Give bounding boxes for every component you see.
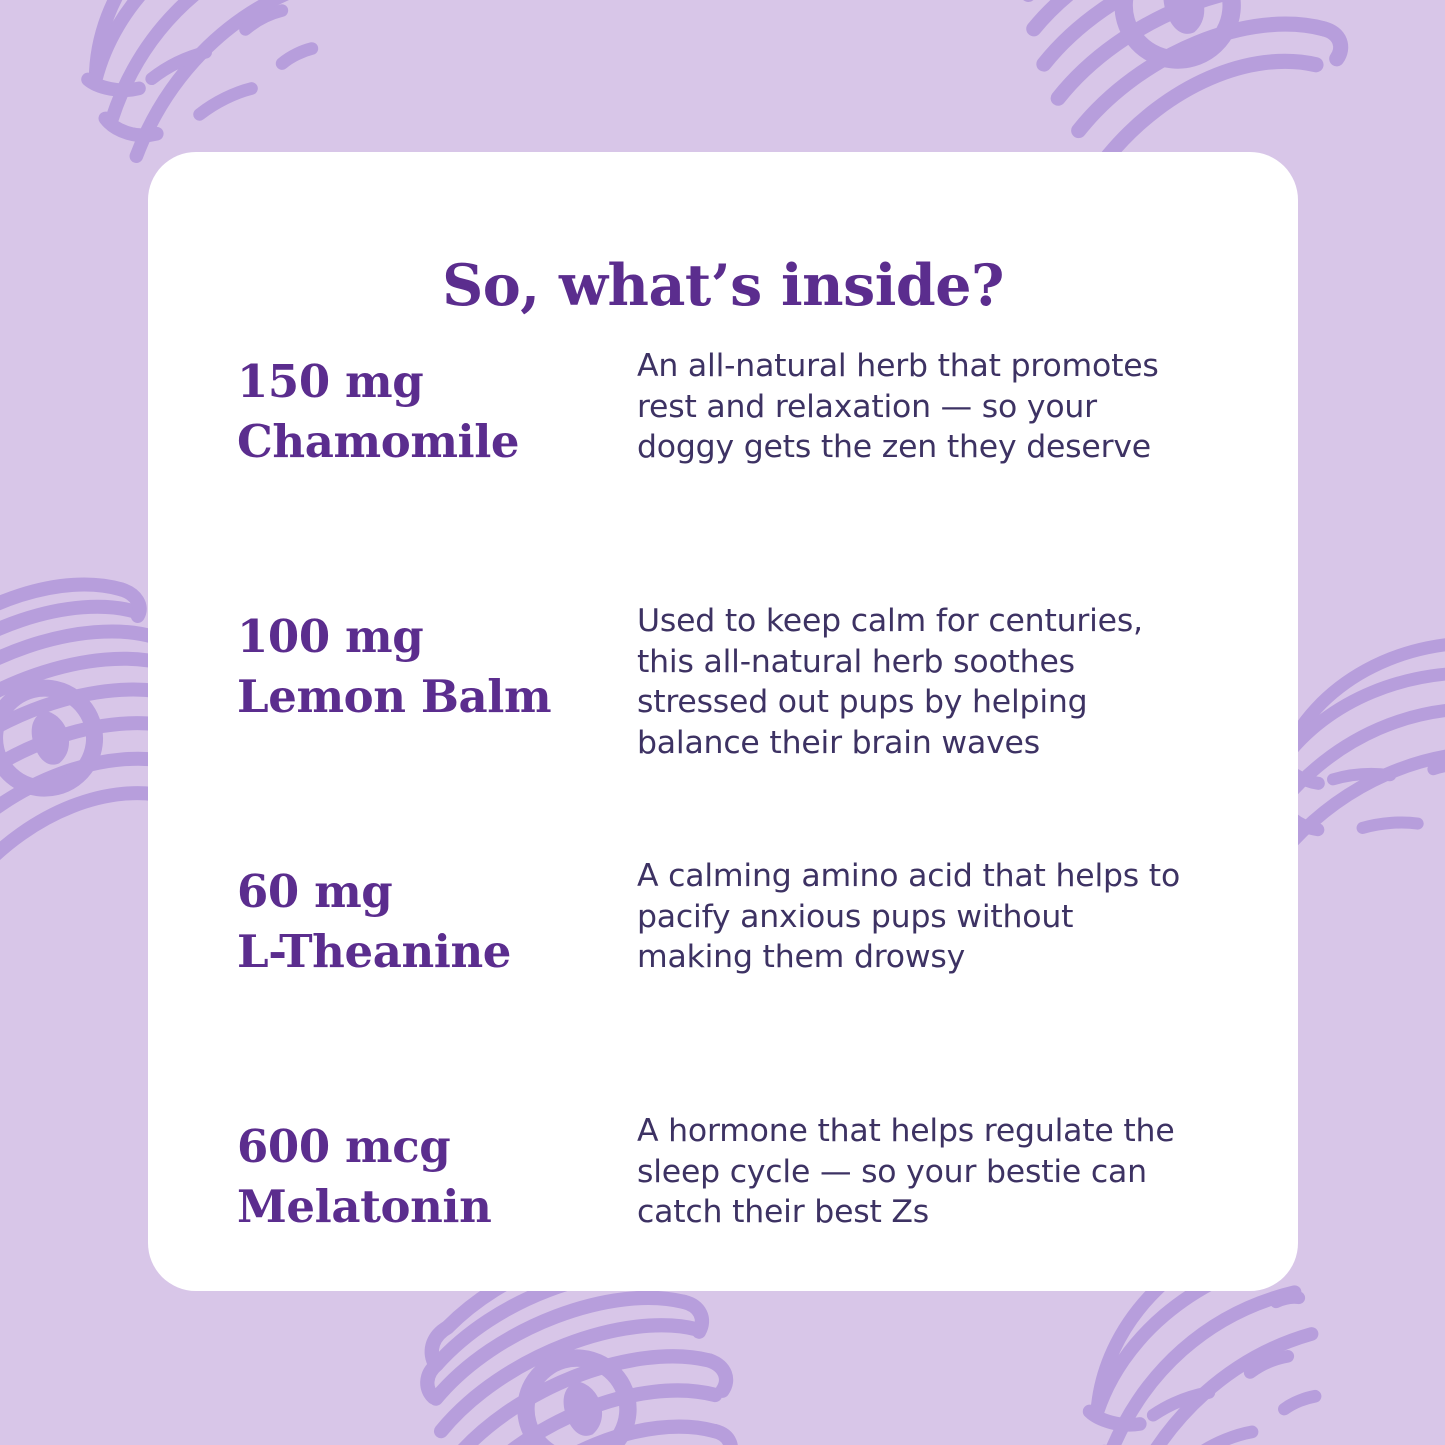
yarn-ball-doodle-icon xyxy=(995,0,1367,166)
ingredient-description: A hormone that helps regulate the sleep … xyxy=(637,1099,1197,1233)
list-item: 600 mcg Melatonin A hormone that helps r… xyxy=(237,1099,1244,1354)
ingredient-description: An all-natural herb that promotes rest a… xyxy=(637,334,1197,468)
ingredient-amount-and-name: 600 mcg Melatonin xyxy=(237,1099,637,1237)
ingredient-amount-and-name: 150 mg Chamomile xyxy=(237,334,637,472)
ingredient-amount-and-name: 100 mg Lemon Balm xyxy=(237,589,637,727)
list-item: 100 mg Lemon Balm Used to keep calm for … xyxy=(237,589,1244,844)
ingredient-amount-and-name: 60 mg L-Theanine xyxy=(237,844,637,982)
crescent-moon-doodle-icon xyxy=(52,0,334,163)
ingredients-card: So, what’s inside? 150 mg Chamomile An a… xyxy=(148,152,1298,1291)
ingredient-description: Used to keep calm for centuries, this al… xyxy=(637,589,1197,764)
page-title: So, what’s inside? xyxy=(148,252,1298,319)
ingredients-infographic: So, what’s inside? 150 mg Chamomile An a… xyxy=(0,0,1445,1445)
ingredient-description: A calming amino acid that helps to pacif… xyxy=(637,844,1197,978)
ingredient-list: 150 mg Chamomile An all-natural herb tha… xyxy=(237,334,1244,1263)
list-item: 150 mg Chamomile An all-natural herb tha… xyxy=(237,334,1244,589)
list-item: 60 mg L-Theanine A calming amino acid th… xyxy=(237,844,1244,1099)
